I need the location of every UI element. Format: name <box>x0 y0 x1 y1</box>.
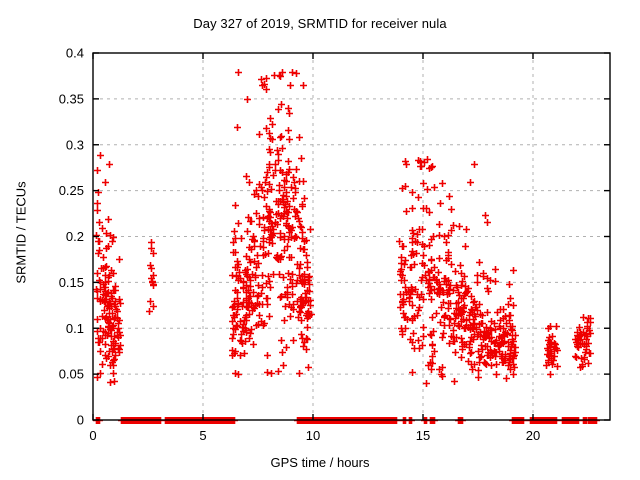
plot-canvas: 00.050.10.150.20.250.30.350.405101520 <box>0 0 640 480</box>
y-tick-label: 0.35 <box>59 91 84 106</box>
grid-layer <box>93 53 610 420</box>
scatter-plot-figure: Day 327 of 2019, SRMTID for receiver nul… <box>0 0 640 480</box>
y-tick-label: 0.3 <box>66 137 84 152</box>
x-tick-label: 5 <box>199 428 206 443</box>
x-tick-label: 0 <box>89 428 96 443</box>
y-tick-label: 0.2 <box>66 229 84 244</box>
y-tick-label: 0.15 <box>59 275 84 290</box>
x-tick-label: 15 <box>416 428 430 443</box>
y-tick-label: 0.25 <box>59 183 84 198</box>
tick-label-layer: 00.050.10.150.20.250.30.350.405101520 <box>59 46 541 444</box>
y-tick-label: 0 <box>77 413 84 428</box>
data-point-markers <box>93 69 600 424</box>
x-tick-label: 10 <box>306 428 320 443</box>
y-tick-label: 0.4 <box>66 46 84 61</box>
x-tick-label: 20 <box>526 428 540 443</box>
data-layer <box>93 69 600 424</box>
y-tick-label: 0.1 <box>66 321 84 336</box>
y-tick-label: 0.05 <box>59 367 84 382</box>
